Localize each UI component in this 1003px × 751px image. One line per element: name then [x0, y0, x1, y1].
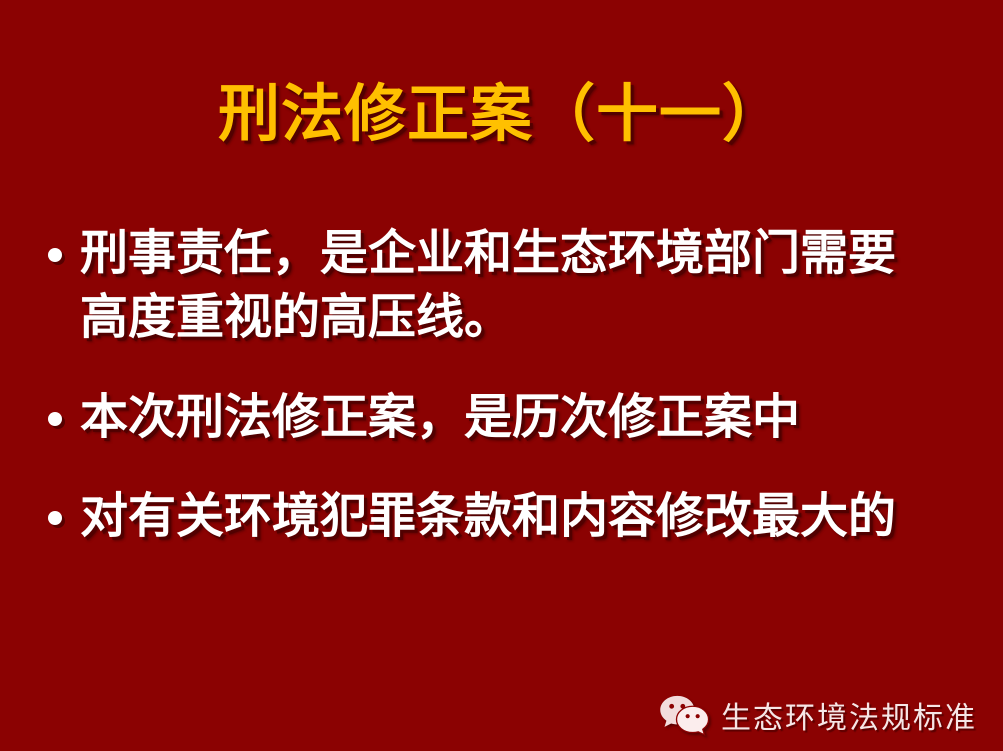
bullet-dot-icon: [48, 248, 62, 262]
presentation-slide: 刑法修正案（十一） 刑事责任，是企业和生态环境部门需要高度重视的高压线。 本次刑…: [0, 0, 1003, 751]
bullet-dot-icon: [48, 412, 62, 426]
list-item-text: 本次刑法修正案，是历次修正案中: [80, 386, 948, 450]
footer-label: 生态环境法规标准: [721, 693, 977, 737]
wechat-icon: [659, 694, 709, 736]
list-item-text: 对有关环境犯罪条款和内容修改最大的: [80, 485, 948, 549]
title-block: 刑法修正案（十一）: [0, 84, 1003, 146]
list-item: 本次刑法修正案，是历次修正案中: [48, 386, 948, 450]
bullet-list: 刑事责任，是企业和生态环境部门需要高度重视的高压线。 本次刑法修正案，是历次修正…: [48, 222, 948, 549]
list-item: 刑事责任，是企业和生态环境部门需要高度重视的高压线。: [48, 222, 948, 350]
page-title: 刑法修正案（十一）: [218, 84, 785, 146]
footer-watermark: 生态环境法规标准: [659, 693, 977, 737]
list-item-text: 刑事责任，是企业和生态环境部门需要高度重视的高压线。: [80, 222, 900, 350]
bullet-dot-icon: [48, 511, 62, 525]
list-item: 对有关环境犯罪条款和内容修改最大的: [48, 485, 948, 549]
